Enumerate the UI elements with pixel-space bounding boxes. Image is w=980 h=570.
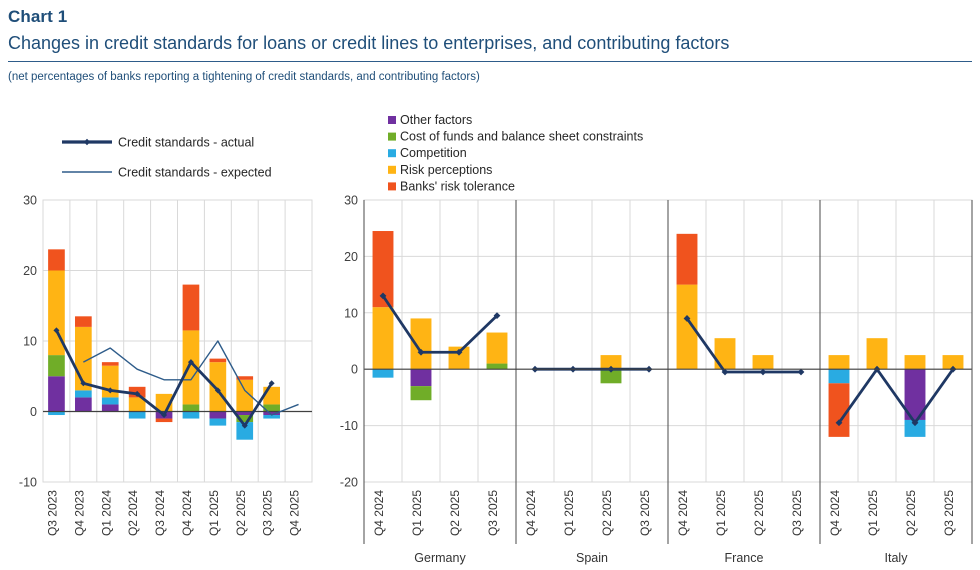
y-tick-30: 30	[23, 194, 37, 208]
page-title: Changes in credit standards for loans or…	[8, 33, 980, 54]
bar-segment-other_factors	[48, 376, 65, 411]
x-tick-Italy-0: Q4 2024	[828, 490, 842, 536]
chart-legend: Credit standards - actualCredit standard…	[62, 113, 643, 193]
legend-label-other_factors: Other factors	[400, 113, 472, 127]
group-label-Germany: Germany	[414, 551, 466, 565]
bar-segment-other_factors	[210, 412, 227, 419]
y-tick--10: -10	[19, 476, 37, 490]
bar-segment-risk_tolerance	[48, 249, 65, 270]
x-tick-Spain-2: Q2 2025	[600, 490, 614, 536]
x-tick-6: Q1 2025	[207, 490, 221, 536]
bar-segment-risk_perceptions	[373, 307, 394, 369]
bar-segment-cost_of_funds	[411, 386, 432, 400]
x-tick-Italy-3: Q3 2025	[942, 490, 956, 536]
bar-segment-risk_tolerance	[156, 419, 173, 423]
bar-segment-competition	[373, 369, 394, 377]
y-tick-0: 0	[30, 405, 37, 419]
group-label-Italy: Italy	[885, 551, 909, 565]
y-tick--10: -10	[340, 419, 358, 433]
bar-segment-risk_perceptions	[905, 355, 926, 369]
x-tick-0: Q3 2023	[45, 490, 59, 536]
bar-segment-risk_tolerance	[677, 234, 698, 285]
bar-segment-other_factors	[75, 397, 92, 411]
bar-segment-risk_perceptions	[487, 333, 508, 364]
bar-segment-other_factors	[102, 404, 119, 411]
bar-stack-France-1	[715, 338, 736, 369]
chart-header: Chart 1 Changes in credit standards for …	[0, 0, 980, 53]
y-tick-30: 30	[344, 194, 358, 208]
legend-label-actual: Credit standards - actual	[118, 136, 254, 150]
y-tick-10: 10	[344, 306, 358, 320]
chart-page: Chart 1 Changes in credit standards for …	[0, 0, 980, 570]
x-tick-France-2: Q2 2025	[752, 490, 766, 536]
x-tick-France-3: Q3 2025	[790, 490, 804, 536]
bar-segment-risk_perceptions	[263, 387, 280, 405]
bar-stack-France-2	[753, 355, 774, 369]
x-tick-9: Q4 2025	[288, 490, 302, 536]
y-tick--20: -20	[340, 476, 358, 490]
bar-segment-competition	[210, 419, 227, 426]
bar-stack-Germany-1	[411, 318, 432, 400]
bar-segment-risk_tolerance	[210, 359, 227, 363]
x-tick-Italy-2: Q2 2025	[904, 490, 918, 536]
x-tick-Germany-0: Q4 2024	[372, 490, 386, 536]
y-tick-20: 20	[23, 264, 37, 278]
x-tick-Germany-2: Q2 2025	[448, 490, 462, 536]
legend-swatch-risk_tolerance	[388, 182, 396, 190]
legend-label-expected: Credit standards - expected	[118, 166, 272, 180]
legend-label-risk_tolerance: Banks' risk tolerance	[400, 179, 515, 193]
x-tick-5: Q4 2024	[180, 490, 194, 536]
x-tick-Italy-1: Q1 2025	[866, 490, 880, 536]
y-tick-10: 10	[23, 335, 37, 349]
bar-segment-competition	[102, 397, 119, 404]
bar-segment-risk_tolerance	[183, 285, 200, 331]
y-tick-0: 0	[351, 363, 358, 377]
x-tick-Spain-1: Q1 2025	[562, 490, 576, 536]
bar-segment-risk_perceptions	[715, 338, 736, 369]
legend-label-risk_perceptions: Risk perceptions	[400, 163, 492, 177]
x-tick-7: Q2 2025	[234, 490, 248, 536]
legend-swatch-other_factors	[388, 116, 396, 124]
x-tick-8: Q3 2025	[261, 490, 275, 536]
chart-countries: -20-100102030Q4 2024Q1 2025Q2 2025Q3 202…	[340, 194, 972, 566]
bar-segment-competition	[129, 412, 146, 419]
legend-label-cost_of_funds: Cost of funds and balance sheet constrai…	[400, 130, 643, 144]
x-tick-3: Q2 2024	[126, 490, 140, 536]
bar-segment-risk_tolerance	[102, 362, 119, 366]
bar-segment-risk_perceptions	[867, 338, 888, 369]
group-label-Spain: Spain	[576, 551, 608, 565]
bar-segment-competition	[829, 369, 850, 383]
x-tick-France-0: Q4 2024	[676, 490, 690, 536]
legend-swatch-risk_perceptions	[388, 166, 396, 174]
x-tick-Spain-3: Q3 2025	[638, 490, 652, 536]
chart-euro-area: -100102030Q3 2023Q4 2023Q1 2024Q2 2024Q3…	[19, 194, 312, 537]
x-tick-Germany-1: Q1 2025	[410, 490, 424, 536]
bar-segment-competition	[183, 412, 200, 419]
x-tick-Germany-3: Q3 2025	[486, 490, 500, 536]
bar-stack-7	[236, 376, 253, 439]
bar-stack-France-0	[677, 234, 698, 369]
group-label-France: France	[725, 551, 764, 565]
bar-segment-cost_of_funds	[48, 355, 65, 376]
x-tick-2: Q1 2024	[99, 490, 113, 536]
x-tick-France-1: Q1 2025	[714, 490, 728, 536]
x-tick-4: Q3 2024	[153, 490, 167, 536]
chart-subtitle: (net percentages of banks reporting a ti…	[8, 71, 980, 84]
bar-stack-Germany-3	[487, 333, 508, 370]
x-tick-Spain-0: Q4 2024	[524, 490, 538, 536]
y-tick-20: 20	[344, 250, 358, 264]
bar-segment-cost_of_funds	[487, 364, 508, 370]
bar-stack-Italy-1	[867, 338, 888, 369]
bar-stack-1	[75, 316, 92, 411]
bar-stack-5	[183, 285, 200, 419]
bar-segment-cost_of_funds	[183, 404, 200, 411]
bar-segment-competition	[75, 390, 92, 397]
bar-segment-risk_perceptions	[829, 355, 850, 369]
legend-swatch-cost_of_funds	[388, 133, 396, 141]
chart-number: Chart 1	[8, 8, 980, 27]
bar-segment-risk_perceptions	[210, 362, 227, 411]
legend-label-competition: Competition	[400, 146, 467, 160]
bar-stack-2	[102, 362, 119, 411]
legend-actual-marker-icon	[84, 139, 90, 145]
bar-segment-risk_perceptions	[753, 355, 774, 369]
legend-swatch-competition	[388, 149, 396, 157]
chart-figure: Credit standards - actualCredit standard…	[0, 110, 980, 570]
bar-segment-other_factors	[411, 369, 432, 386]
header-divider	[8, 61, 972, 62]
bar-segment-risk_tolerance	[75, 316, 92, 327]
x-tick-1: Q4 2023	[72, 490, 86, 536]
